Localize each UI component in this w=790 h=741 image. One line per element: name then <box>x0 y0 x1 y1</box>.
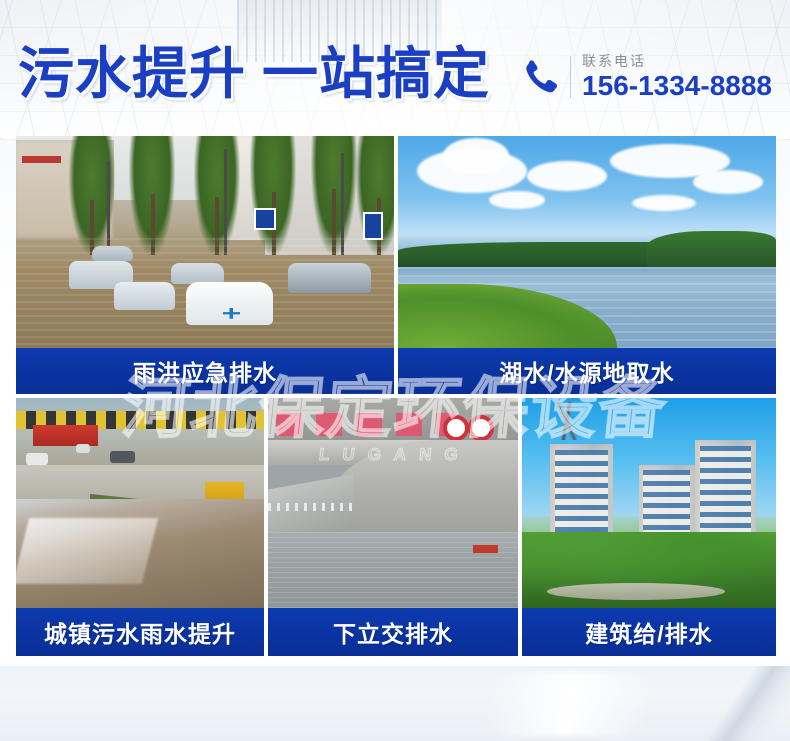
contact-text: 联系电话 156-1334-8888 <box>582 54 772 101</box>
gallery-row-2: 城镇污水雨水提升 下立交排水 <box>16 398 776 656</box>
urban-sewage-pumping-photo <box>16 398 264 608</box>
contact-block[interactable]: 联系电话 156-1334-8888 <box>519 54 772 101</box>
gallery-caption: 雨洪应急排水 <box>16 348 394 394</box>
background-floor <box>0 666 790 741</box>
header: 污水提升一站搞定 联系电话 156-1334-8888 <box>0 0 790 136</box>
gallery-caption: 城镇污水雨水提升 <box>16 608 264 656</box>
contact-phone-number[interactable]: 156-1334-8888 <box>582 71 772 100</box>
contact-label: 联系电话 <box>582 54 772 69</box>
gallery-caption: 下立交排水 <box>268 608 518 656</box>
phone-icon <box>519 57 559 97</box>
gallery-card-lake[interactable]: 湖水/水源地取水 <box>398 136 776 394</box>
building-water-supply-photo <box>522 398 776 608</box>
gallery-card-underpass[interactable]: 下立交排水 <box>268 398 518 656</box>
gallery-row-1: 雨洪应急排水 湖水/水源地取水 <box>16 136 776 394</box>
page-title: 污水提升一站搞定 <box>18 46 490 102</box>
photo-gallery: 雨洪应急排水 湖水/水源地取水 <box>16 136 776 656</box>
headline-part-1: 污水提升 <box>18 42 246 105</box>
underpass-drainage-photo <box>268 398 518 608</box>
gallery-card-urban-sewage[interactable]: 城镇污水雨水提升 <box>16 398 264 656</box>
gallery-caption: 湖水/水源地取水 <box>398 348 776 394</box>
gallery-caption: 建筑给/排水 <box>522 608 776 656</box>
promo-banner: 污水提升一站搞定 联系电话 156-1334-8888 <box>0 0 790 741</box>
headline-part-2: 一站搞定 <box>262 42 490 105</box>
gallery-card-flood[interactable]: 雨洪应急排水 <box>16 136 394 394</box>
flooded-street-photo <box>16 136 394 348</box>
contact-divider <box>570 56 571 98</box>
lake-water-source-photo <box>398 136 776 348</box>
gallery-card-building[interactable]: 建筑给/排水 <box>522 398 776 656</box>
